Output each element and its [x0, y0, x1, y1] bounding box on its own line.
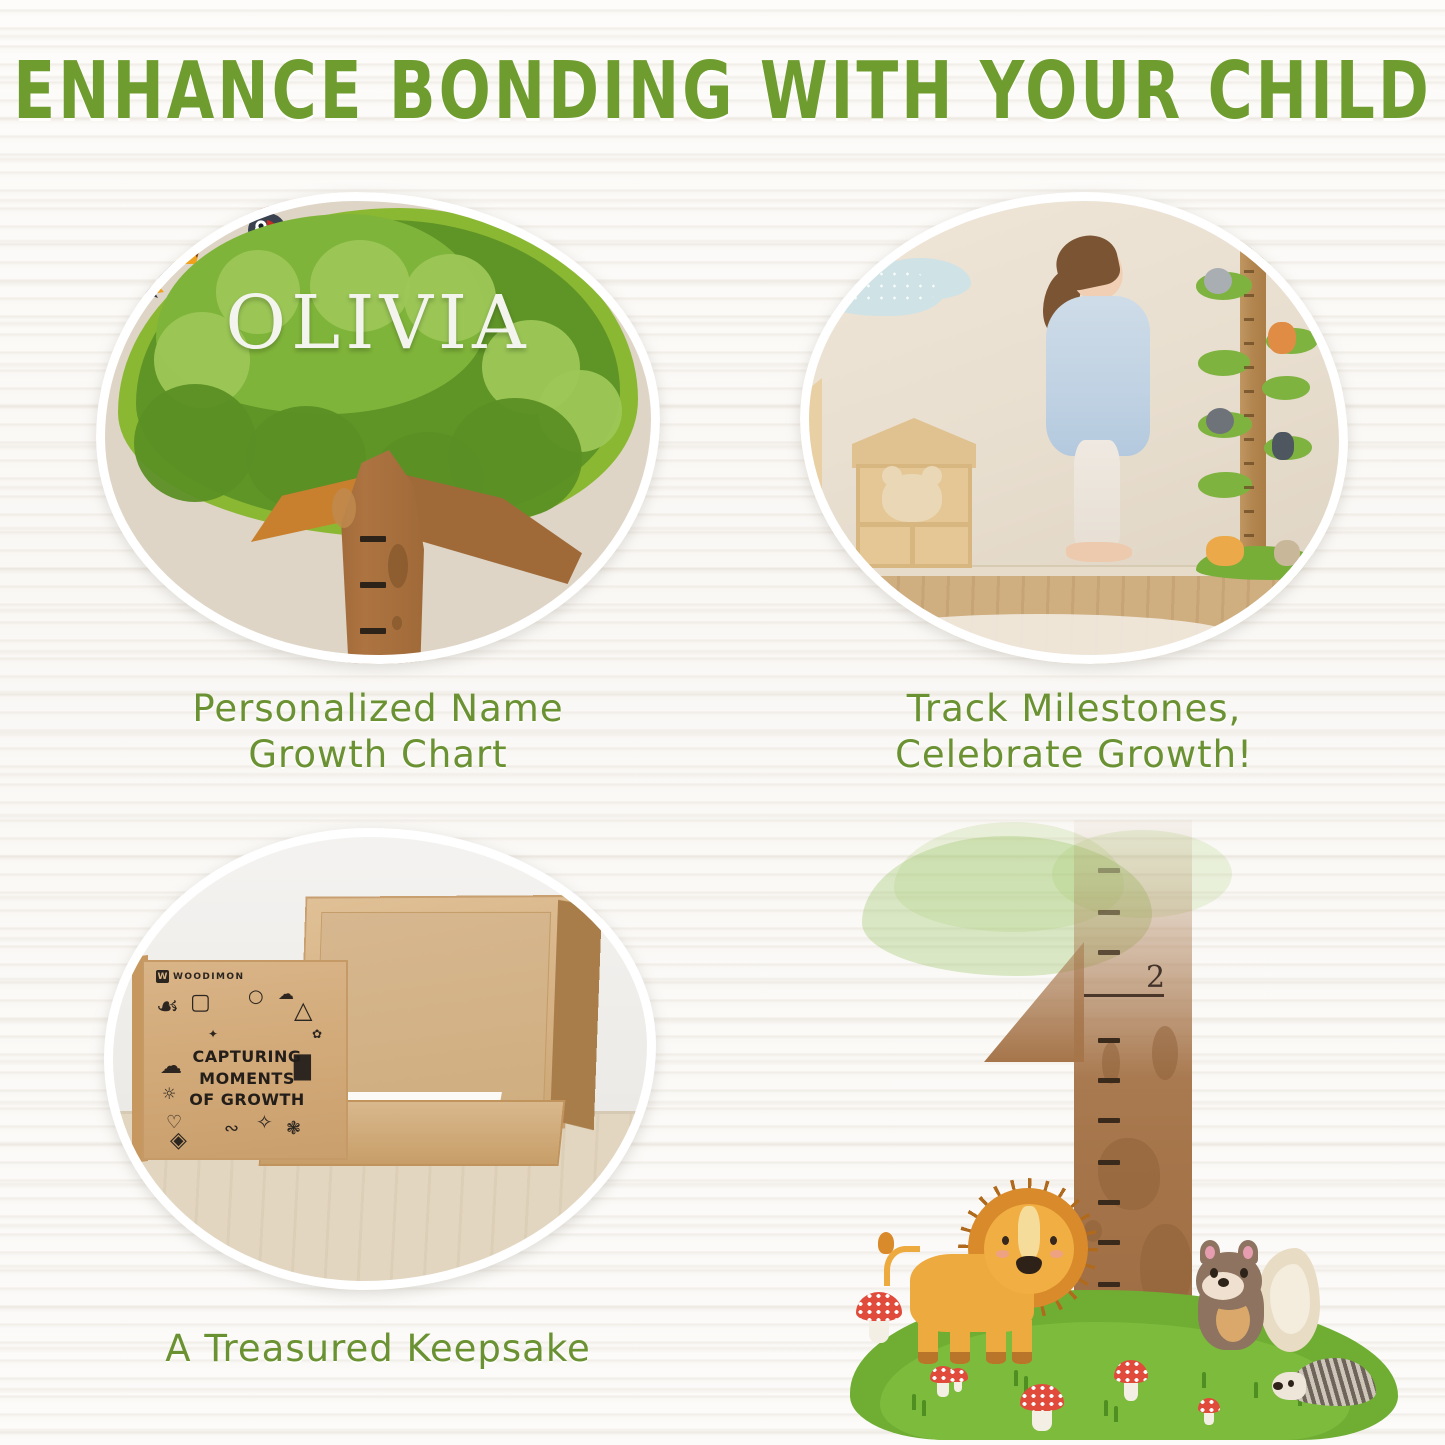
lion-cheek [1050, 1250, 1063, 1258]
doodle-flower-icon: ❃ [286, 1120, 301, 1138]
box-lid-flap [550, 900, 602, 1131]
caption-track-milestones: Track Milestones, Celebrate Growth! [790, 686, 1358, 778]
monkey-decal-icon [1270, 236, 1300, 270]
mushroom-icon [1114, 1360, 1148, 1400]
toucan-decal-icon [1272, 432, 1294, 460]
squirrel-decal-icon [1274, 540, 1300, 566]
doodle-balloon-icon: ○ [248, 988, 264, 1006]
lion-muzzle-stripe [1018, 1206, 1040, 1260]
leaf-cluster [134, 384, 256, 502]
ruler-tick [1098, 910, 1120, 915]
lion-eye [1002, 1236, 1009, 1245]
doodle-bird-icon: ◈ [170, 1130, 187, 1152]
caption-line-2: Growth Chart [86, 732, 670, 778]
wall-growth-chart [1192, 224, 1312, 572]
squirrel-eye [1210, 1268, 1218, 1278]
child-legs [1074, 440, 1120, 548]
ruler-tick [360, 536, 386, 542]
lion-decal-icon [1206, 536, 1244, 566]
doodle-lion-icon: ▢ [190, 992, 211, 1014]
mushroom-icon [1020, 1384, 1064, 1430]
koala-decal-icon [1204, 268, 1232, 294]
doodle-star-icon: ✦ [208, 1028, 218, 1040]
ruler-tick [1098, 1200, 1120, 1205]
ruler-tick [360, 628, 386, 634]
doodle-cactus-icon: ☙ [156, 994, 179, 1020]
shelf-vertical-divider [910, 522, 915, 568]
wall-chart-leaf [1262, 376, 1310, 400]
doodle-cloud-icon: ☁ [278, 986, 294, 1002]
squirrel-icon [1186, 1242, 1314, 1362]
box-headline-line-2: MOMENTS [154, 1068, 340, 1090]
fox-decal-icon [1268, 322, 1296, 354]
doodle-leaf-icon: ✿ [312, 1028, 322, 1040]
page-title: ENHANCE BONDING WITH YOUR CHILD [7, 44, 1438, 137]
ruler-tick [1098, 1038, 1120, 1043]
panel-personalized-name-chart[interactable]: OLIVIA [96, 192, 660, 664]
ruler-tick [1098, 1240, 1120, 1245]
panel-treasured-keepsake[interactable]: W WOODIMON ☙ ▢ ○ ☁ △ ☁ ☼ █ ♡ ◈ ∾ ✧ ❃ ✦ ✿ [104, 828, 656, 1290]
box-headline-line-1: CAPTURING [154, 1046, 340, 1068]
ruler-tick [1098, 1118, 1120, 1123]
ruler-tick [1098, 868, 1120, 873]
box-headline-line-3: OF GROWTH [154, 1089, 340, 1111]
owl-decal-icon [1206, 408, 1234, 434]
child-figure [1022, 242, 1172, 572]
ruler-tick [1098, 1078, 1120, 1083]
panel-track-milestones[interactable] [800, 192, 1348, 664]
ruler-tick [360, 582, 386, 588]
caption-line-1: Track Milestones, [790, 686, 1358, 732]
shelf-side-panel [800, 378, 822, 568]
trunk-knot [388, 544, 408, 588]
doodle-snake-icon: ∾ [224, 1120, 239, 1138]
squirrel-eye [1240, 1268, 1248, 1278]
box-lid-inner [315, 912, 551, 1112]
hedgehog-nose [1273, 1382, 1283, 1390]
infographic-page: ENHANCE BONDING WITH YOUR CHILD OLIVIA [0, 0, 1445, 1445]
lion-tail-tuft [878, 1232, 894, 1254]
trunk-knot [1152, 1026, 1178, 1080]
lion-leg [950, 1320, 970, 1364]
squirrel-nose [1218, 1278, 1229, 1287]
lion-cheek [996, 1250, 1009, 1258]
hedgehog-eye [1288, 1380, 1294, 1387]
caption-line-1: Personalized Name [86, 686, 670, 732]
squirrel-ear-inner [1243, 1246, 1253, 1259]
mushroom-icon [856, 1292, 902, 1342]
shelf-roof [852, 418, 976, 468]
lion-leg [986, 1320, 1006, 1364]
lion-leg [918, 1320, 938, 1364]
mushroom-icon [948, 1368, 968, 1392]
ruler-tick [1098, 1282, 1120, 1287]
ruler-tick [1098, 950, 1120, 955]
lion-eye [1050, 1236, 1057, 1245]
child-dress [1046, 296, 1150, 456]
lion-icon [910, 1188, 1098, 1370]
cloud-pillow-icon [828, 260, 944, 316]
box-front-face: W WOODIMON ☙ ▢ ○ ☁ △ ☁ ☼ █ ♡ ◈ ∾ ✧ ❃ ✦ ✿ [142, 960, 348, 1160]
teddy-bear-icon [882, 474, 942, 522]
hedgehog-icon [1272, 1354, 1376, 1412]
squirrel-ear-inner [1205, 1246, 1215, 1259]
ruler-number: 2 [1146, 960, 1165, 995]
caption-line-2: Celebrate Growth! [790, 732, 1358, 778]
caption-treasured-keepsake: A Treasured Keepsake [86, 1326, 670, 1372]
house-shelf [852, 418, 976, 568]
trunk-knot [392, 616, 402, 630]
growth-chart-detail: 2 [846, 820, 1402, 1440]
caption-personalized-name: Personalized Name Growth Chart [86, 686, 670, 778]
floor-rug [840, 614, 1240, 662]
child-name-text: OLIVIA [96, 280, 660, 366]
ruler-tick [1098, 1160, 1120, 1165]
doodle-palm-icon: ✧ [256, 1112, 273, 1132]
child-feet [1066, 542, 1132, 562]
trunk-knot [332, 488, 356, 528]
box-headline: CAPTURING MOMENTS OF GROWTH [154, 1046, 340, 1111]
lion-leg [1012, 1320, 1032, 1364]
caption-line-1: A Treasured Keepsake [86, 1326, 670, 1372]
doodle-dinosaur-icon: △ [294, 998, 312, 1022]
mushroom-icon [1198, 1398, 1220, 1424]
squirrel-tail-inner [1270, 1264, 1310, 1334]
